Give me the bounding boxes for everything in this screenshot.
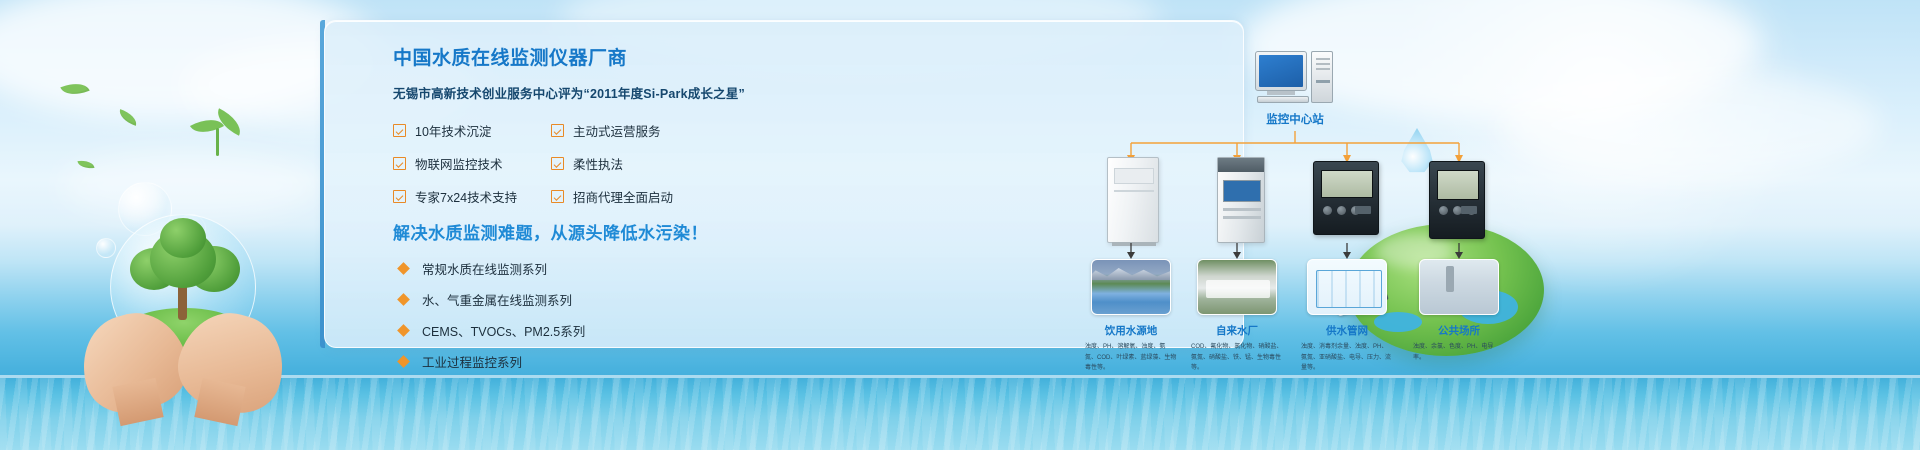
- photo-waterworks[interactable]: [1197, 259, 1277, 315]
- monitor-icon: [1255, 51, 1307, 91]
- product-series-list: 常规水质在线监测系列 水、气重金属在线监测系列 CEMS、TVOCs、PM2.5…: [399, 259, 585, 383]
- scenario-water-source: 饮用水源地 浊度、PH、溶解氧、浊度、氨氮、COD、叶绿素、蓝绿藻、生物毒性等。: [1083, 323, 1179, 374]
- scenario-title: 饮用水源地: [1083, 323, 1179, 338]
- feature-item[interactable]: 物联网监控技术: [393, 154, 551, 173]
- feature-checklist: 10年技术沉淀 主动式运营服务 物联网监控技术 柔性执法 专家7x24技术支持: [393, 121, 743, 220]
- photo-supply-network[interactable]: [1307, 259, 1387, 315]
- scenario-supply-network: 供水管网 浊度、消毒剂余量、浊度、PH、氨氮、亚硝酸盐、电导、压力、流量等。: [1299, 323, 1395, 374]
- cabinet-seam: [1114, 190, 1154, 192]
- feature-item[interactable]: 专家7x24技术支持: [393, 187, 551, 206]
- controller-body: [1429, 161, 1485, 239]
- leaf-icon: [60, 78, 89, 101]
- feature-row: 专家7x24技术支持 招商代理全面启动: [393, 187, 743, 206]
- scenario-public-place: 公共场所 浊度、余氯、色度、PH、电导率。: [1411, 323, 1507, 363]
- analyzer-seam: [1223, 216, 1261, 219]
- leaf-icon: [77, 159, 94, 170]
- device-row: [1085, 157, 1515, 257]
- main-content-panel: 中国水质在线监测仪器厂商 无锡市高新技术创业服务中心评为“2011年度Si-Pa…: [324, 20, 1244, 348]
- diamond-bullet-icon: [397, 355, 410, 368]
- list-item-label: 常规水质在线监测系列: [422, 259, 547, 278]
- feature-item[interactable]: 招商代理全面启动: [551, 187, 673, 206]
- page-title: 中国水质在线监测仪器厂商: [393, 43, 753, 70]
- feature-label: 柔性执法: [573, 154, 623, 173]
- tree-canopy-shape: [160, 218, 206, 258]
- hands-holding-tree-illustration: [68, 212, 298, 412]
- diamond-bullet-icon: [397, 324, 410, 337]
- list-item-label: CEMS、TVOCs、PM2.5系列: [422, 321, 585, 340]
- list-item[interactable]: 工业过程监控系列: [399, 352, 585, 371]
- monitor-stand: [1267, 91, 1295, 95]
- feature-item[interactable]: 主动式运营服务: [551, 121, 661, 140]
- diamond-bullet-icon: [397, 262, 410, 275]
- keyboard-icon: [1257, 96, 1309, 103]
- scenario-waterworks: 自来水厂 COD、氟化物、氯化物、硝酸盐、氨氮、硝酸盐、铁、锰、生物毒性等。: [1189, 323, 1285, 374]
- scenario-label-row: 饮用水源地 浊度、PH、溶解氧、浊度、氨氮、COD、叶绿素、蓝绿藻、生物毒性等。…: [1085, 323, 1515, 383]
- feature-item[interactable]: 10年技术沉淀: [393, 121, 551, 140]
- controller-lcd-screen: [1437, 170, 1479, 200]
- scenario-title: 供水管网: [1299, 323, 1395, 338]
- checkbox-checked-icon: [393, 190, 406, 203]
- feature-label: 主动式运营服务: [573, 121, 661, 140]
- diamond-bullet-icon: [397, 293, 410, 306]
- analyzer-top-panel: [1218, 158, 1264, 172]
- tree-trunk-shape: [178, 284, 187, 320]
- controller-brand-plate: [1355, 206, 1371, 214]
- panel-left-column: 中国水质在线监测仪器厂商 无锡市高新技术创业服务中心评为“2011年度Si-Pa…: [393, 43, 753, 102]
- scenario-photo-row: [1085, 259, 1515, 321]
- scenario-description: 浊度、余氯、色度、PH、电导率。: [1411, 342, 1507, 363]
- cloud-decoration: [60, 150, 320, 220]
- list-item-label: 水、气重金属在线监测系列: [422, 290, 572, 309]
- analyzer-body: [1217, 157, 1265, 243]
- feature-row: 10年技术沉淀 主动式运营服务: [393, 121, 743, 140]
- list-item[interactable]: CEMS、TVOCs、PM2.5系列: [399, 321, 585, 340]
- list-item[interactable]: 常规水质在线监测系列: [399, 259, 585, 278]
- center-station-label: 监控中心站: [1215, 111, 1375, 127]
- monitoring-system-diagram: 监控中心站: [1085, 47, 1515, 367]
- leaf-icon: [117, 109, 139, 126]
- control-center-computer-icon: [1255, 51, 1335, 107]
- page-subtitle: 无锡市高新技术创业服务中心评为“2011年度Si-Park成长之星”: [393, 83, 753, 102]
- cabinet-vent: [1114, 168, 1154, 184]
- checkbox-checked-icon: [551, 124, 564, 137]
- pc-tower-icon: [1311, 51, 1333, 103]
- list-item-label: 工业过程监控系列: [422, 352, 522, 371]
- controller-brand-plate: [1461, 206, 1477, 214]
- checkbox-checked-icon: [551, 190, 564, 203]
- cabinet-body: [1107, 157, 1159, 243]
- checkbox-checked-icon: [393, 157, 406, 170]
- feature-label: 10年技术沉淀: [415, 121, 491, 140]
- scenario-description: COD、氟化物、氯化物、硝酸盐、氨氮、硝酸盐、铁、锰、生物毒性等。: [1189, 342, 1285, 374]
- feature-label: 招商代理全面启动: [573, 187, 673, 206]
- checkbox-checked-icon: [393, 124, 406, 137]
- checkbox-checked-icon: [551, 157, 564, 170]
- section-title: 解决水质监测难题，从源头降低水污染！: [393, 219, 708, 244]
- feature-item[interactable]: 柔性执法: [551, 154, 623, 173]
- photo-water-source[interactable]: [1091, 259, 1171, 315]
- list-item[interactable]: 水、气重金属在线监测系列: [399, 290, 585, 309]
- controller-lcd-screen: [1321, 170, 1373, 198]
- sprout-icon: [188, 112, 248, 158]
- scenario-title: 公共场所: [1411, 323, 1507, 338]
- cloud-decoration: [1500, 70, 1880, 180]
- analyzer-display: [1223, 180, 1261, 202]
- controller-body: [1313, 161, 1379, 235]
- feature-label: 专家7x24技术支持: [415, 187, 517, 206]
- scenario-title: 自来水厂: [1189, 323, 1285, 338]
- monitor-screen: [1259, 55, 1303, 87]
- feature-label: 物联网监控技术: [415, 154, 503, 173]
- scenario-description: 浊度、消毒剂余量、浊度、PH、氨氮、亚硝酸盐、电导、压力、流量等。: [1299, 342, 1395, 374]
- photo-public-place[interactable]: [1419, 259, 1499, 315]
- scenario-description: 浊度、PH、溶解氧、浊度、氨氮、COD、叶绿素、蓝绿藻、生物毒性等。: [1083, 342, 1179, 374]
- analyzer-seam: [1223, 208, 1261, 211]
- feature-row: 物联网监控技术 柔性执法: [393, 154, 743, 173]
